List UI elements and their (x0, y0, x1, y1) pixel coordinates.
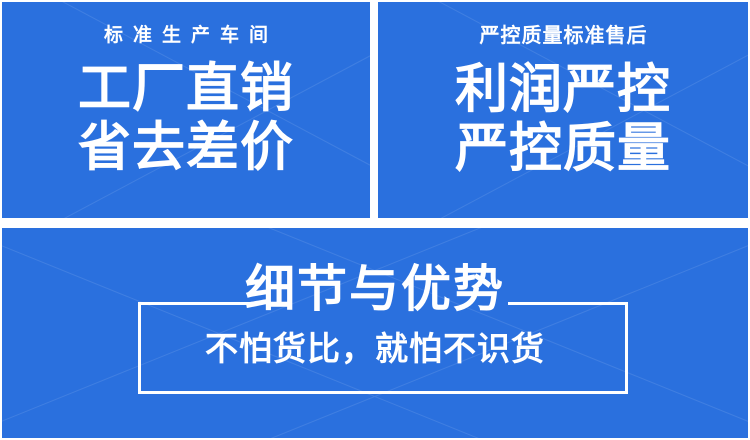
panel-quality-control: 严控质量标准售后 利润严控 严控质量 (378, 2, 748, 218)
panel-factory-direct: 标准生产车间 工厂直销 省去差价 (2, 2, 370, 218)
panel-factory-direct-eyebrow: 标准生产车间 (94, 26, 278, 45)
panel-details-advantages-subtitle: 不怕货比，就怕不识货 (2, 332, 748, 365)
panel-quality-control-headline-line2: 严控质量 (455, 119, 671, 178)
panel-factory-direct-headline-line2: 省去差价 (78, 118, 294, 177)
panel-quality-control-headline-line1: 利润严控 (455, 60, 671, 119)
panel-quality-control-eyebrow: 严控质量标准售后 (479, 26, 648, 46)
promo-banner: 标准生产车间 工厂直销 省去差价 严控质量标准售后 利润严控 严控质量 细节与 (0, 0, 750, 440)
panel-details-advantages-title: 细节与优势 (2, 264, 748, 314)
panel-details-advantages: 细节与优势 不怕货比，就怕不识货 (2, 228, 748, 438)
panel-factory-direct-headline-line1: 工厂直销 (78, 59, 294, 118)
